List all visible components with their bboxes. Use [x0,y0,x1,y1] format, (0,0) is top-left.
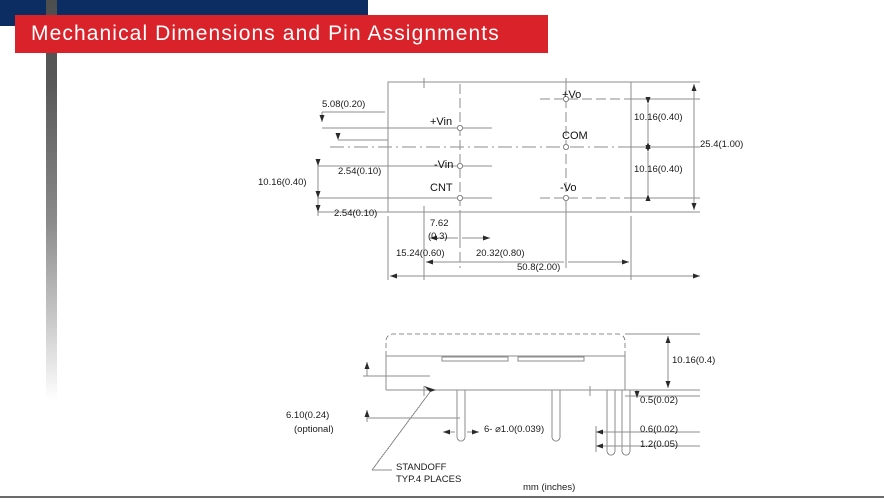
pin-label-minus-vo: -Vo [560,182,577,194]
pin-label-com: COM [562,130,588,142]
dim-pin-diameter: 6- ⌀1.0(0.039) [484,425,544,436]
dim-pin-width: 0.6(0.02) [640,425,678,436]
pin-label-minus-vin: -Vin [434,159,453,171]
units-note: mm (inches) [523,482,575,493]
note-standoff-line1: STANDOFF [396,463,447,474]
footer-divider [0,496,884,498]
dim-right-top: 10.16(0.40) [634,113,683,124]
dim-left-bottom: 2.54(0.10) [334,209,377,220]
dim-left-top: 5.08(0.20) [322,100,365,111]
section-title-banner: Mechanical Dimensions and Pin Assignment… [15,15,548,53]
dim-left-overall: 10.16(0.40) [258,178,307,189]
dim-optional-note: (optional) [294,425,334,436]
dim-right-bottom: 10.16(0.40) [634,165,683,176]
dim-right-total: 25.4(1.00) [700,140,743,151]
dim-bottom-left: 15.24(0.60) [396,249,445,260]
dim-pitch-inch: (0.3) [428,232,448,243]
pin-label-plus-vo: +Vo [562,89,581,101]
pin-label-plus-vin: +Vin [430,116,452,128]
dim-left-mid: 2.54(0.10) [338,167,381,178]
note-standoff-line2: TYP.4 PLACES [396,475,461,486]
dim-pin-pitch: 1.2(0.05) [640,440,678,451]
pin-label-cnt: CNT [430,182,453,194]
left-vertical-rail [46,0,57,400]
page-title: Mechanical Dimensions and Pin Assignment… [15,22,500,46]
dim-side-height: 10.16(0.4) [672,356,715,367]
dim-optional-value: 6.10(0.24) [286,411,329,422]
dim-standoff-height: 0.5(0.02) [640,396,678,407]
dim-bottom-right: 20.32(0.80) [476,249,525,260]
dim-pitch-value: 7.62 [430,219,449,230]
dim-bottom-overall: 50.8(2.00) [517,263,560,274]
